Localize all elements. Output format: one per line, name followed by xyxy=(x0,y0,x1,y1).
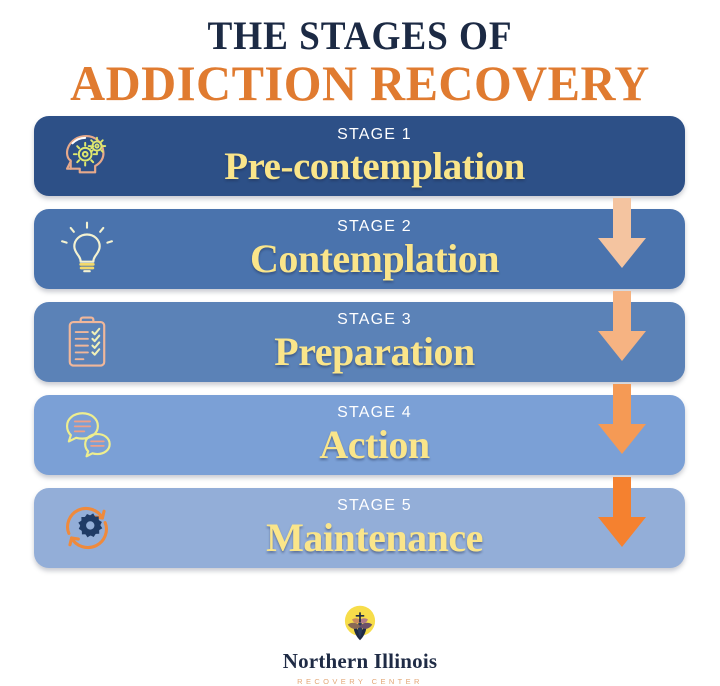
clipboard-checklist-icon xyxy=(48,303,126,381)
stage-row-1[interactable]: STAGE 1 Pre-contemplation xyxy=(34,116,685,196)
stage-name-1: Pre-contemplation xyxy=(126,147,623,186)
leaf-sun-logo-icon xyxy=(337,600,383,646)
stage-kicker-5: STAGE 5 xyxy=(126,498,623,514)
stage-kicker-4: STAGE 4 xyxy=(126,405,623,421)
brand-logo: Northern Illinois RECOVERY CENTER xyxy=(0,600,720,686)
stage-row-4[interactable]: STAGE 4 Action xyxy=(34,395,685,475)
title-line-secondary: ADDICTION RECOVERY xyxy=(11,56,709,110)
down-arrow-icon-1 xyxy=(594,198,650,272)
stage-kicker-2: STAGE 2 xyxy=(126,219,623,235)
stage-kicker-3: STAGE 3 xyxy=(126,312,623,328)
gear-refresh-icon xyxy=(48,489,126,567)
stage-row-2[interactable]: STAGE 2 Contemplation xyxy=(34,209,685,289)
stage-row-3[interactable]: STAGE 3 Preparation xyxy=(34,302,685,382)
page-title: THE STAGES OF ADDICTION RECOVERY xyxy=(0,0,720,110)
stages-list: STAGE 1 Pre-contemplation STAGE 2 Cont xyxy=(0,116,720,586)
speech-bubbles-icon xyxy=(48,396,126,474)
stage-kicker-1: STAGE 1 xyxy=(126,127,623,143)
stage-text-1: STAGE 1 Pre-contemplation xyxy=(126,127,685,186)
title-line-primary: THE STAGES OF xyxy=(25,14,695,58)
lightbulb-icon xyxy=(48,210,126,288)
stage-row-5[interactable]: STAGE 5 Maintenance xyxy=(34,488,685,568)
down-arrow-icon-4 xyxy=(594,477,650,551)
down-arrow-icon-3 xyxy=(594,384,650,458)
down-arrow-icon-2 xyxy=(594,291,650,365)
stage-name-2: Contemplation xyxy=(126,239,623,279)
stage-name-5: Maintenance xyxy=(126,518,623,558)
stage-name-3: Preparation xyxy=(126,332,623,372)
logo-name: Northern Illinois xyxy=(0,649,720,674)
stage-name-4: Action xyxy=(126,425,623,465)
head-gears-icon xyxy=(48,117,126,195)
